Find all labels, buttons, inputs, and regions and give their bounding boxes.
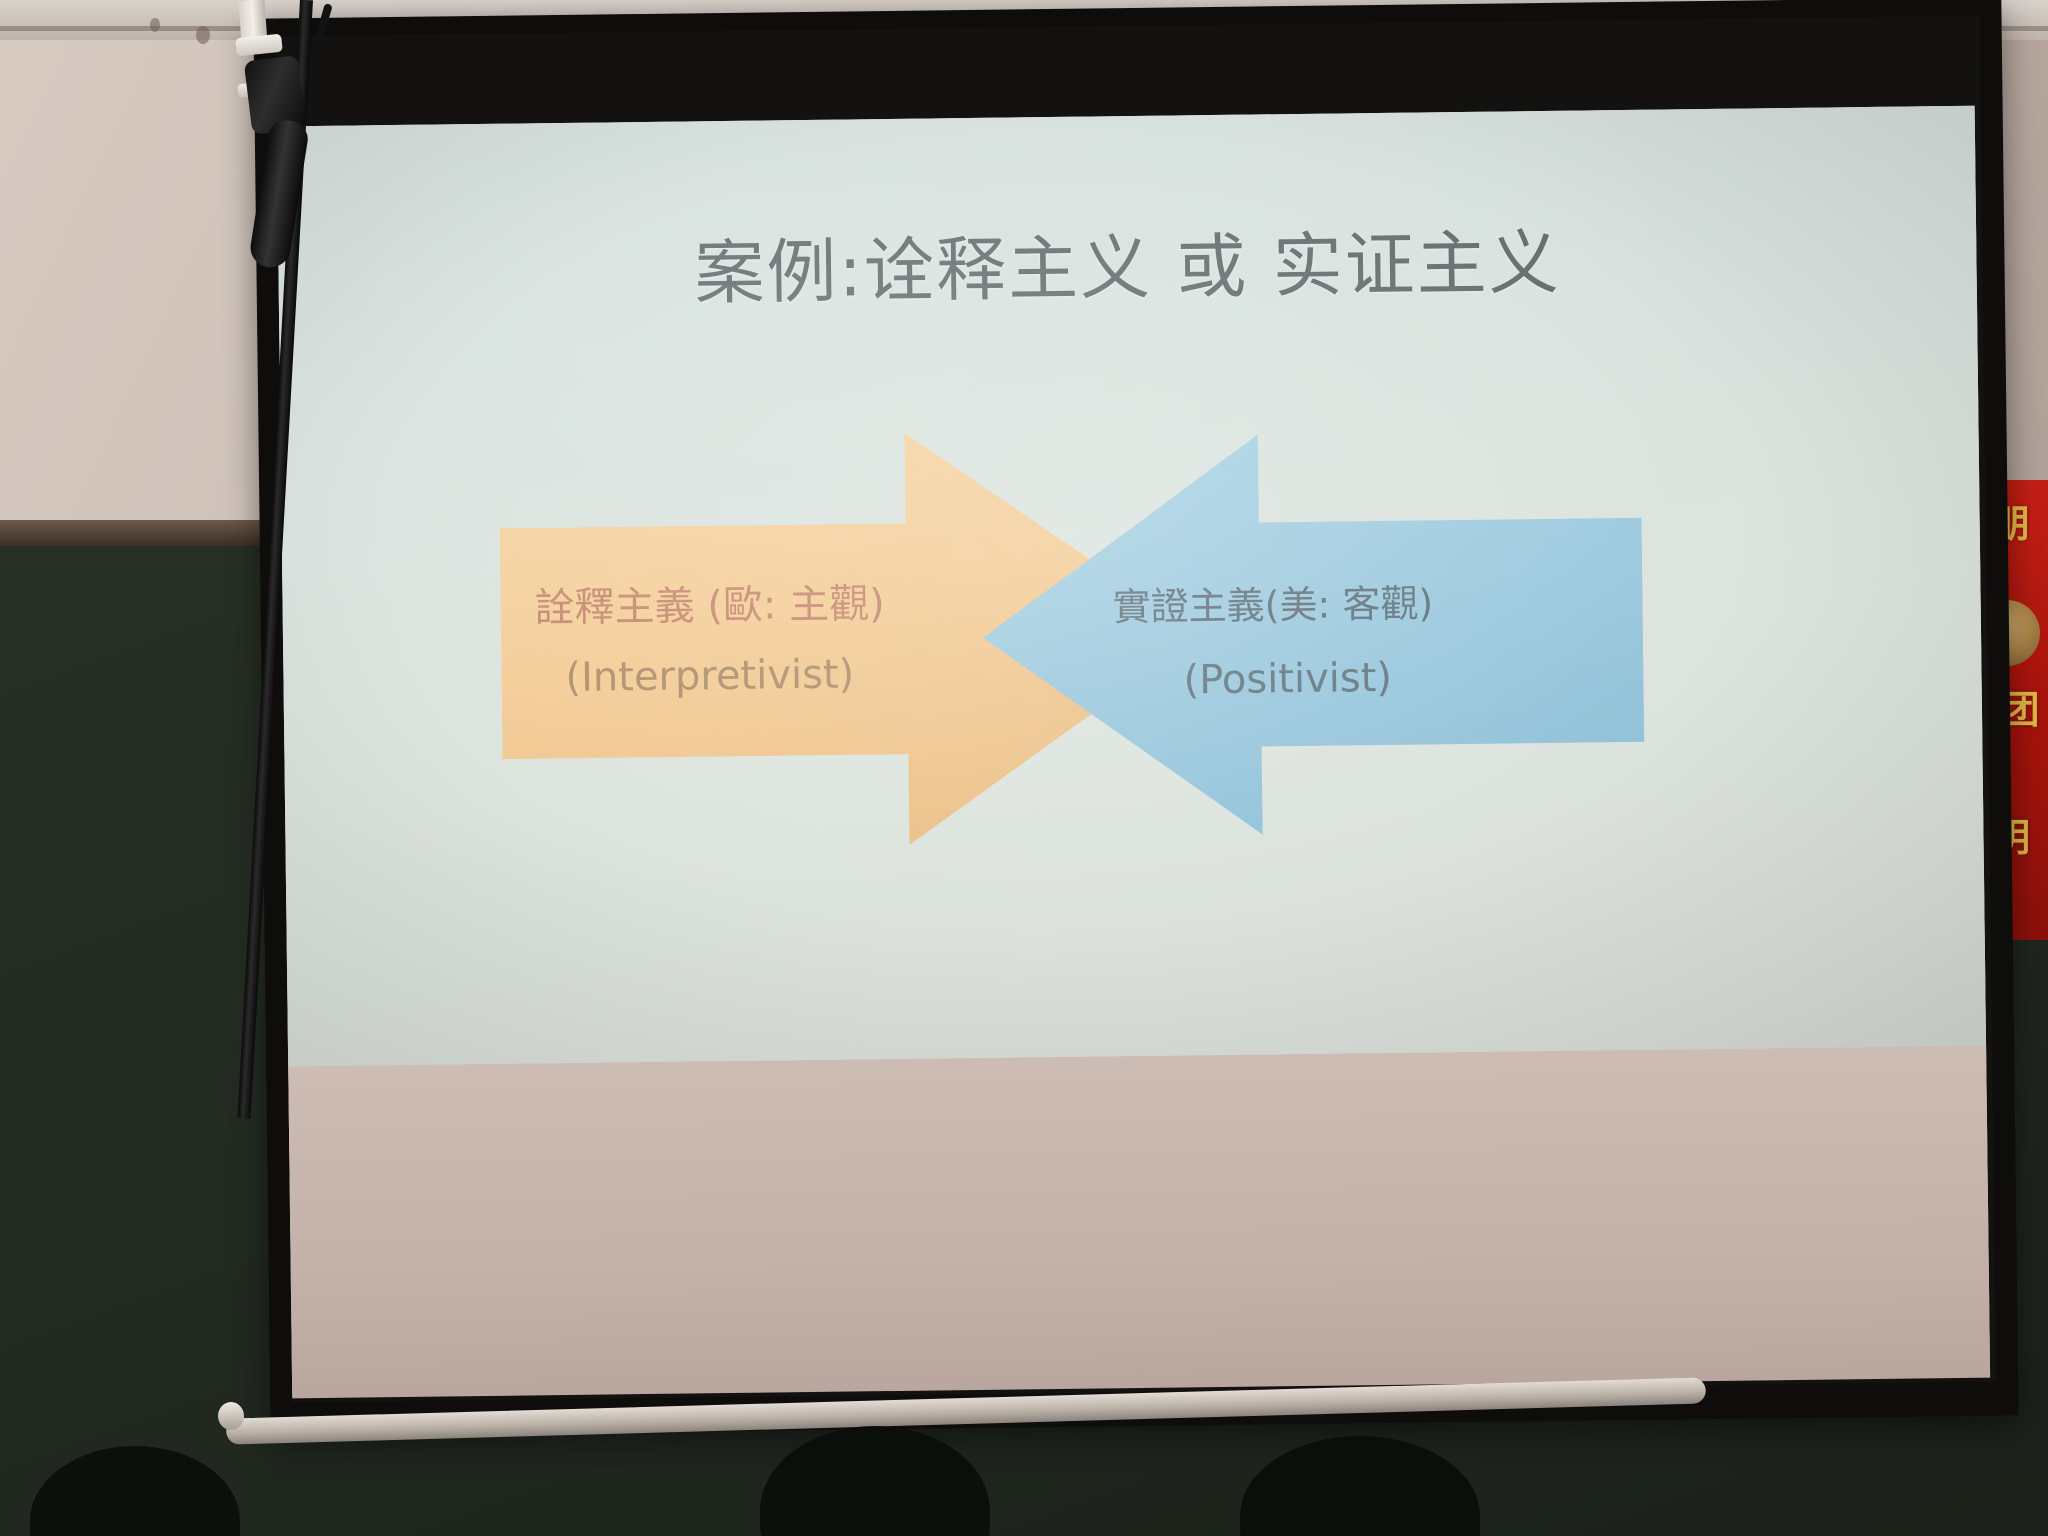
projector-screen: 案例:诠释主义 或 实证主义 詮釋主義 (歐: 主觀) (Interpretiv… xyxy=(253,0,2018,1437)
interpretivist-label-cn: 詮釋主義 (歐: 主觀) xyxy=(534,571,885,633)
positivist-label-cn: 實證主義(美: 客觀) xyxy=(1112,572,1433,631)
interpretivist-label-en: (Interpretivist) xyxy=(565,651,854,701)
wall-screw xyxy=(150,18,160,32)
projected-slide: 案例:诠释主义 或 实证主义 詮釋主義 (歐: 主觀) (Interpretiv… xyxy=(277,106,1986,1067)
positivist-label-en: (Positivist) xyxy=(1183,655,1392,704)
slide-title: 案例:诠释主义 或 实证主义 xyxy=(278,202,1977,324)
screen-lower-band xyxy=(288,1046,1990,1399)
wall-screw xyxy=(196,26,210,44)
classroom-photo-scene: 朋 2团 明 案例:诠释主义 或 实证主义 詮釋主義 (歐: 主觀) (Inte… xyxy=(0,0,2048,1536)
positivist-arrow-shape xyxy=(981,430,1646,838)
arrow-diagram: 詮釋主義 (歐: 主觀) (Interpretivist) 實證主義(美: 客觀… xyxy=(280,406,1983,867)
